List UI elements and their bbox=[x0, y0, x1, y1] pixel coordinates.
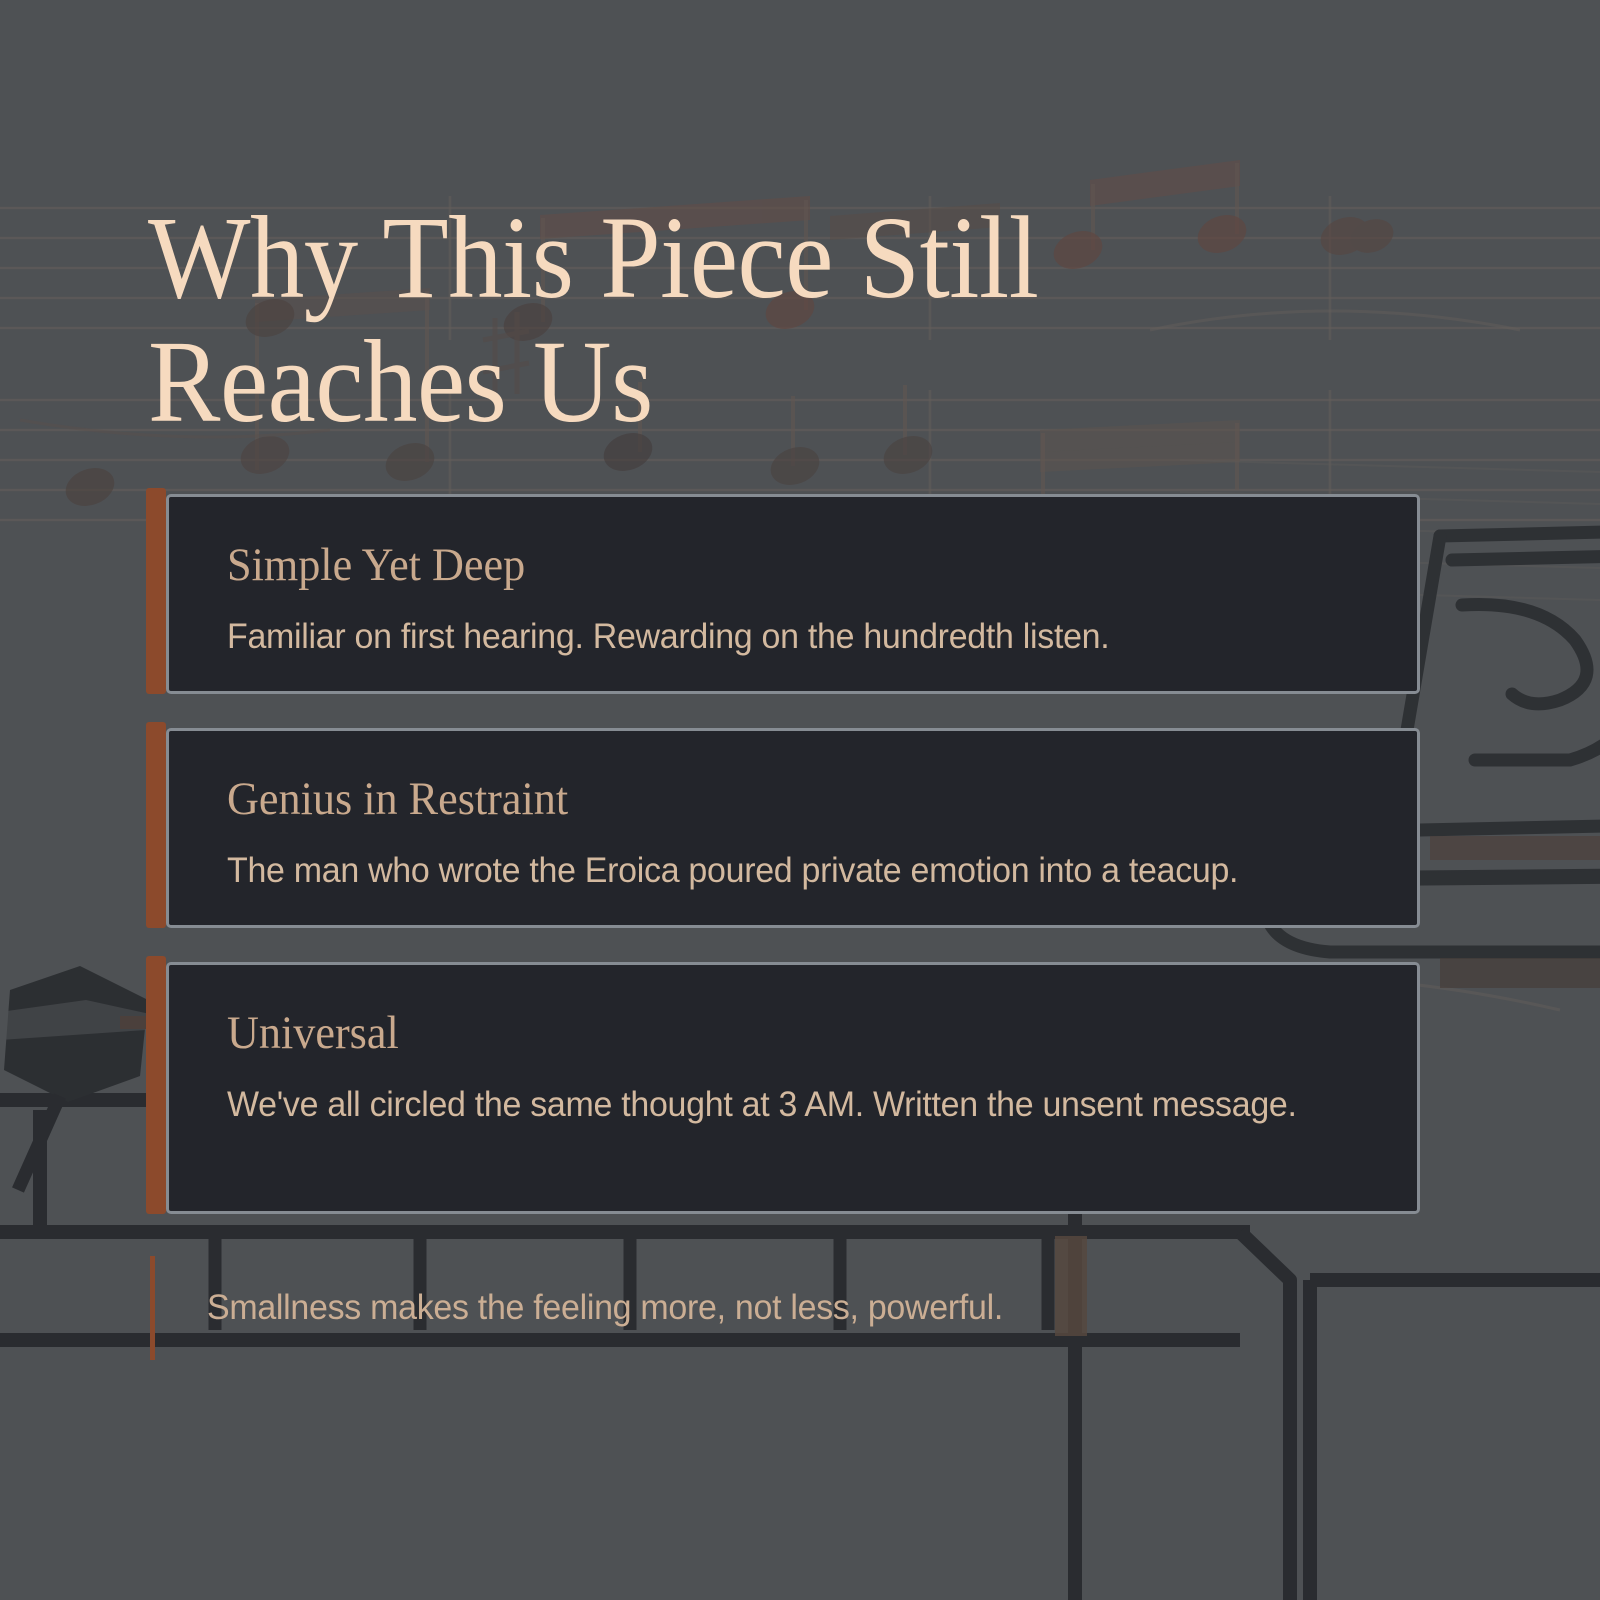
reason-card-list: Simple Yet Deep Familiar on first hearin… bbox=[146, 488, 1420, 1242]
card-accent-bar bbox=[146, 488, 166, 694]
card-panel: Universal We've all circled the same tho… bbox=[166, 962, 1420, 1214]
card-body-text: The man who wrote the Eroica poured priv… bbox=[227, 846, 1381, 896]
card-body-text: We've all circled the same thought at 3 … bbox=[227, 1080, 1381, 1130]
card-body-text: Familiar on first hearing. Rewarding on … bbox=[227, 612, 1381, 662]
card-heading: Universal bbox=[227, 1009, 1346, 1058]
footer-text: Smallness makes the feeling more, not le… bbox=[207, 1288, 1003, 1328]
reason-card-universal[interactable]: Universal We've all circled the same tho… bbox=[146, 956, 1420, 1214]
footer-note: Smallness makes the feeling more, not le… bbox=[150, 1256, 1028, 1360]
page-title: Why This Piece Still Reaches Us bbox=[148, 196, 1068, 444]
reason-card-genius-in-restraint[interactable]: Genius in Restraint The man who wrote th… bbox=[146, 722, 1420, 928]
card-heading: Genius in Restraint bbox=[227, 775, 1346, 824]
card-heading: Simple Yet Deep bbox=[227, 541, 1346, 590]
card-panel: Genius in Restraint The man who wrote th… bbox=[166, 728, 1420, 928]
card-accent-bar bbox=[146, 722, 166, 928]
card-panel: Simple Yet Deep Familiar on first hearin… bbox=[166, 494, 1420, 694]
footer-accent-rule bbox=[150, 1256, 155, 1360]
card-accent-bar bbox=[146, 956, 166, 1214]
reason-card-simple-yet-deep[interactable]: Simple Yet Deep Familiar on first hearin… bbox=[146, 488, 1420, 694]
